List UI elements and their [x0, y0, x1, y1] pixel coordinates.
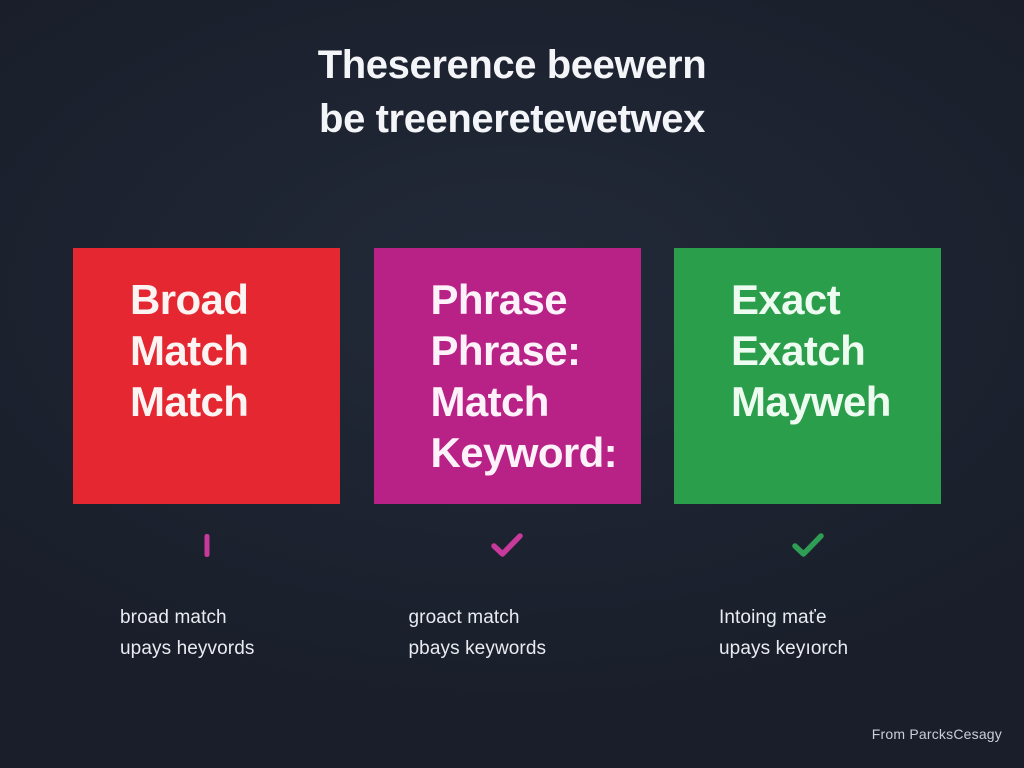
card-phrase-match[interactable]: Phrase Phrase: Match Keyword: — [374, 248, 641, 504]
check-icon-exact — [674, 528, 941, 564]
card-broad-line-2: Match — [130, 325, 340, 376]
caption-broad-line-1: broad match — [120, 602, 340, 633]
tick-bar-icon — [73, 528, 340, 564]
infographic-slide: Theserence beewern be treeneretewetwex B… — [0, 0, 1024, 768]
card-broad-match[interactable]: Broad Match Match — [73, 248, 340, 504]
card-exact-line-3: Mayweh — [731, 376, 941, 427]
caption-exact-line-1: Intoing maťe — [719, 602, 941, 633]
caption-exact-line-2: upays keyıorch — [719, 633, 941, 664]
card-exact-line-2: Exatch — [731, 325, 941, 376]
caption-exact-text: Intoing maťe upays keyıorch — [674, 602, 941, 664]
caption-column-exact: Intoing maťe upays keyıorch — [674, 520, 941, 670]
caption-broad-line-2: upays heyvords — [120, 633, 340, 664]
check-icon-phrase — [374, 528, 641, 564]
caption-column-broad: broad match upays heyvords — [73, 520, 340, 670]
caption-phrase-line-1: groact match — [409, 602, 641, 633]
card-exact-match[interactable]: Exact Exatch Mayweh — [674, 248, 941, 504]
card-phrase-line-3: Match — [431, 376, 641, 427]
caption-phrase-text: groact match pbays keywords — [374, 602, 641, 664]
card-phrase-line-1: Phrase — [431, 274, 641, 325]
caption-phrase-line-2: pbays keywords — [409, 633, 641, 664]
card-broad-line-1: Broad — [130, 274, 340, 325]
caption-broad-text: broad match upays heyvords — [73, 602, 340, 664]
page-title-line-1: Theserence beewern — [60, 38, 964, 92]
card-exact-line-1: Exact — [731, 274, 941, 325]
card-broad-line-3: Match — [130, 376, 340, 427]
page-title-line-2: be treeneretewetwex — [60, 92, 964, 146]
caption-columns: broad match upays heyvords groact match … — [73, 520, 941, 670]
match-type-cards: Broad Match Match Phrase Phrase: Match K… — [73, 248, 941, 504]
card-phrase-line-2: Phrase: — [431, 325, 641, 376]
footer-credit: From ParcksCesagy — [872, 726, 1002, 742]
card-phrase-line-4: Keyword: — [431, 427, 641, 478]
page-title: Theserence beewern be treeneretewetwex — [0, 38, 1024, 146]
caption-column-phrase: groact match pbays keywords — [374, 520, 641, 670]
